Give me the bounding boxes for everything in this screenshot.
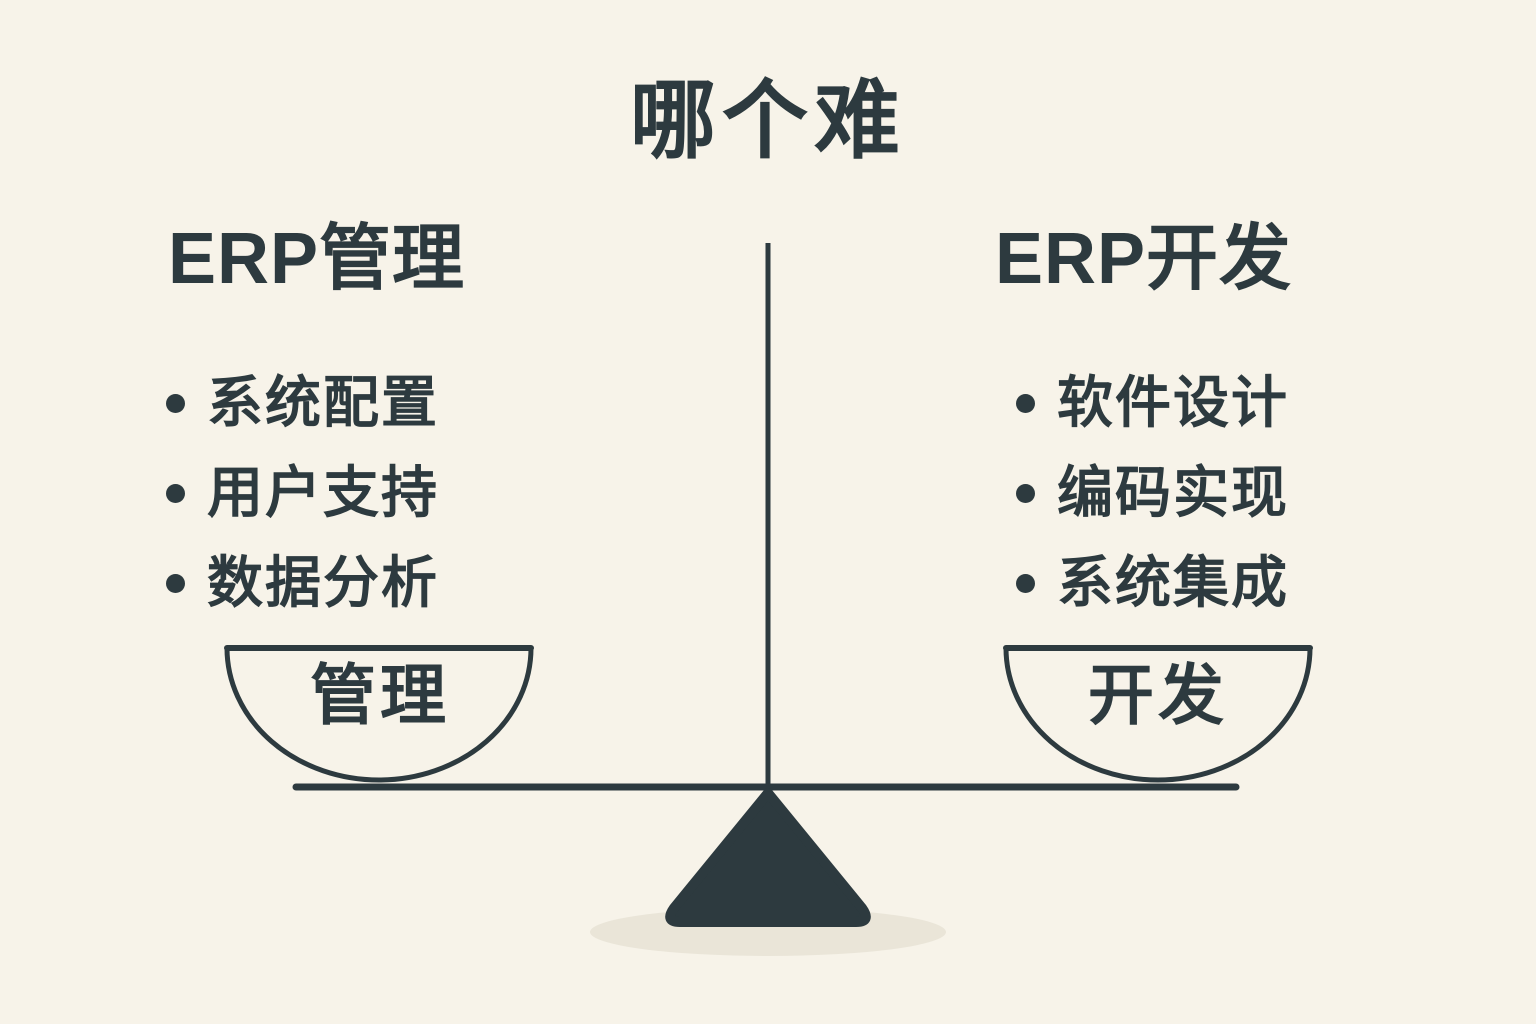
right-bullet-list: 软件设计 编码实现 系统集成 (1016, 358, 1289, 628)
left-column-heading: ERP管理 (168, 222, 465, 298)
list-item-label: 系统集成 (1057, 555, 1289, 611)
left-bullet-list: 系统配置 用户支持 数据分析 (166, 358, 439, 628)
infographic-canvas: 哪个难 ERP管理 ERP开发 系统配置 用户支持 (0, 0, 1536, 1024)
bullet-dot-icon (166, 484, 185, 503)
list-item: 编码实现 (1016, 448, 1289, 538)
list-item-label: 软件设计 (1057, 375, 1289, 431)
list-item: 用户支持 (166, 448, 439, 538)
bullet-dot-icon (166, 394, 185, 413)
bullet-dot-icon (1016, 484, 1035, 503)
list-item-label: 系统配置 (207, 375, 439, 431)
list-item: 系统配置 (166, 358, 439, 448)
right-pan-label: 开发 (1003, 662, 1313, 728)
bullet-dot-icon (1016, 574, 1035, 593)
list-item: 数据分析 (166, 538, 439, 628)
list-item-label: 用户支持 (207, 465, 439, 521)
bullet-dot-icon (166, 574, 185, 593)
left-pan-label: 管理 (225, 662, 535, 728)
right-column-heading: ERP开发 (995, 222, 1292, 298)
list-item: 系统集成 (1016, 538, 1289, 628)
list-item: 软件设计 (1016, 358, 1289, 448)
list-item-label: 数据分析 (207, 555, 439, 611)
bullet-dot-icon (1016, 394, 1035, 413)
list-item-label: 编码实现 (1057, 465, 1289, 521)
triangle-fulcrum (670, 793, 866, 922)
